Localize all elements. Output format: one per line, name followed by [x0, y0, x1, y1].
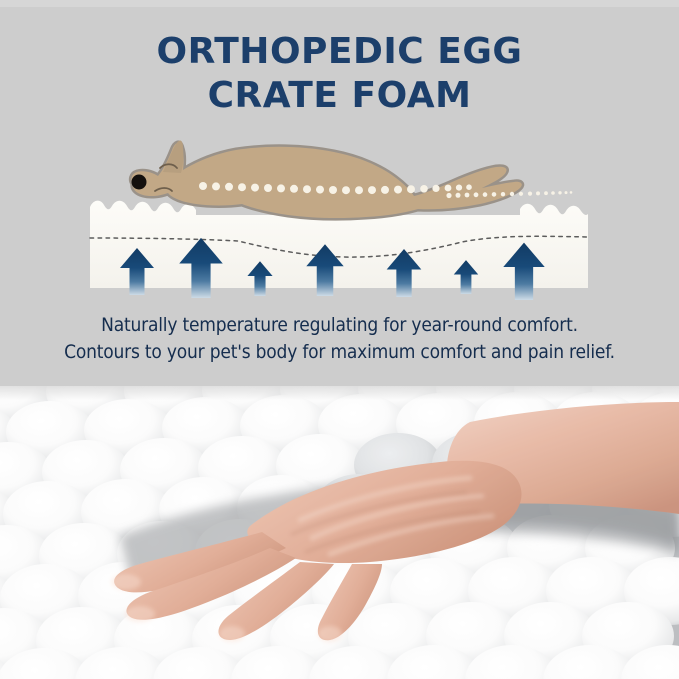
foam-closeup-photo	[0, 386, 679, 679]
page-title: ORTHOPEDIC EGG CRATE FOAM	[0, 30, 679, 118]
dog-nose-icon	[132, 175, 147, 190]
page-title-line-2: CRATE FOAM	[0, 74, 679, 118]
page-title-line-1: ORTHOPEDIC EGG	[0, 30, 679, 74]
dog-on-foam-illustration	[0, 120, 679, 310]
top-info-panel: ORTHOPEDIC EGG CRATE FOAM	[0, 0, 679, 386]
sleeping-dog	[131, 141, 572, 219]
feature-description-line-1: Naturally temperature regulating for yea…	[0, 312, 679, 339]
feature-description: Naturally temperature regulating for yea…	[0, 312, 679, 366]
feature-description-line-2: Contours to your pet's body for maximum …	[0, 339, 679, 366]
product-feature-graphic: ORTHOPEDIC EGG CRATE FOAM	[0, 0, 679, 679]
top-edge-highlight	[0, 0, 679, 7]
